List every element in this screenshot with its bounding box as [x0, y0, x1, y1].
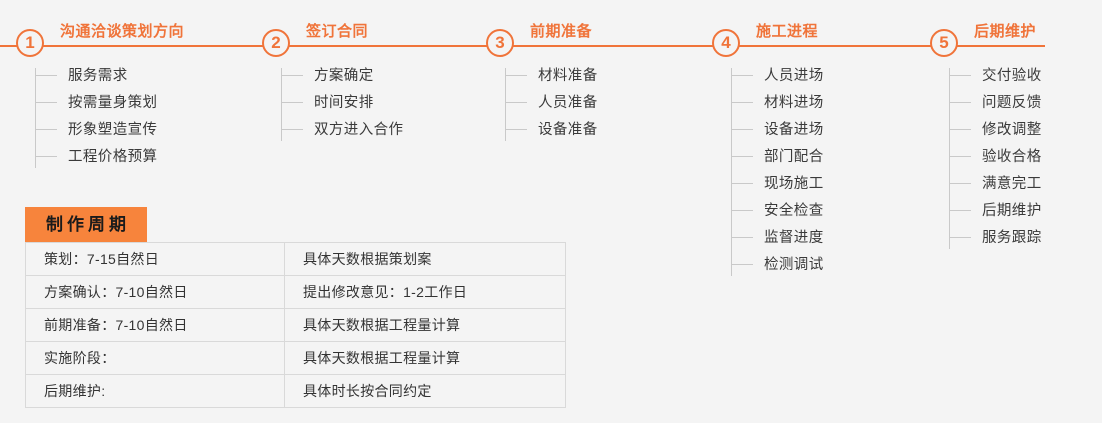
step-subitem-label: 后期维护: [982, 198, 1042, 225]
step-subitem[interactable]: 设备准备: [505, 116, 598, 143]
step-subitem[interactable]: 按需量身策划: [35, 89, 157, 116]
tree-branch-icon: [281, 75, 303, 76]
step-subitem[interactable]: 人员进场: [731, 62, 824, 89]
tree-branch-icon: [281, 102, 303, 103]
cycle-phase-cell: 后期维护:: [26, 375, 285, 408]
cycle-phase-cell: 策划：7-15自然日: [26, 243, 285, 276]
tree-branch-icon: [281, 129, 303, 130]
step-number-badge: 2: [262, 29, 290, 57]
step-subitem-label: 安全检查: [764, 198, 824, 225]
cycle-detail-cell: 具体时长按合同约定: [285, 375, 566, 408]
production-cycle-block: 制作周期 策划：7-15自然日具体天数根据策划案方案确认：7-10自然日提出修改…: [25, 207, 566, 408]
cycle-detail-cell: 具体天数根据策划案: [285, 243, 566, 276]
step-subitem[interactable]: 双方进入合作: [281, 116, 403, 143]
step-subitem[interactable]: 满意完工: [949, 170, 1042, 197]
step-subitem-label: 材料进场: [764, 90, 824, 117]
step-subitem[interactable]: 服务跟踪: [949, 224, 1042, 251]
step-subitem[interactable]: 现场施工: [731, 170, 824, 197]
tree-branch-icon: [35, 129, 57, 130]
tree-branch-icon: [949, 102, 971, 103]
step-subitem[interactable]: 材料进场: [731, 89, 824, 116]
table-row: 方案确认：7-10自然日提出修改意见：1-2工作日: [26, 276, 566, 309]
step-subitem-label: 服务跟踪: [982, 225, 1042, 252]
step-subitem-label: 交付验收: [982, 63, 1042, 90]
step-title: 后期维护: [974, 20, 1036, 41]
step-subitem-label: 现场施工: [764, 171, 824, 198]
step-subitem-list: 材料准备人员准备设备准备: [505, 62, 598, 143]
tree-branch-icon: [35, 102, 57, 103]
step-subitem-label: 验收合格: [982, 144, 1042, 171]
step-subitem-label: 时间安排: [314, 90, 374, 117]
tree-branch-icon: [949, 75, 971, 76]
step-subitem-label: 部门配合: [764, 144, 824, 171]
step-number-badge: 5: [930, 29, 958, 57]
step-subitem-label: 修改调整: [982, 117, 1042, 144]
step-subitem-label: 监督进度: [764, 225, 824, 252]
step-subitem-label: 服务需求: [68, 63, 128, 90]
production-cycle-table: 策划：7-15自然日具体天数根据策划案方案确认：7-10自然日提出修改意见：1-…: [25, 242, 566, 408]
tree-branch-icon: [949, 237, 971, 238]
step-subitem[interactable]: 问题反馈: [949, 89, 1042, 116]
table-row: 前期准备：7-10自然日具体天数根据工程量计算: [26, 309, 566, 342]
step-subitem[interactable]: 人员准备: [505, 89, 598, 116]
step-subitem[interactable]: 服务需求: [35, 62, 157, 89]
tree-branch-icon: [731, 237, 753, 238]
tree-branch-icon: [949, 210, 971, 211]
step-subitem-list: 方案确定时间安排双方进入合作: [281, 62, 403, 143]
step-subitem[interactable]: 检测调试: [731, 251, 824, 278]
step-subitem[interactable]: 安全检查: [731, 197, 824, 224]
step-subitem[interactable]: 工程价格预算: [35, 143, 157, 170]
step-subitem[interactable]: 监督进度: [731, 224, 824, 251]
step-title: 前期准备: [530, 20, 592, 41]
step-number-badge: 4: [712, 29, 740, 57]
tree-branch-icon: [505, 102, 527, 103]
step-title: 签订合同: [306, 20, 368, 41]
table-row: 实施阶段：具体天数根据工程量计算: [26, 342, 566, 375]
tree-branch-icon: [949, 129, 971, 130]
step-subitem-label: 按需量身策划: [68, 90, 157, 117]
cycle-detail-cell: 具体天数根据工程量计算: [285, 309, 566, 342]
step-subitem[interactable]: 部门配合: [731, 143, 824, 170]
tree-branch-icon: [731, 75, 753, 76]
cycle-detail-cell: 具体天数根据工程量计算: [285, 342, 566, 375]
step-subitem-label: 满意完工: [982, 171, 1042, 198]
step-subitem-label: 设备进场: [764, 117, 824, 144]
step-subitem[interactable]: 形象塑造宣传: [35, 116, 157, 143]
step-subitem[interactable]: 验收合格: [949, 143, 1042, 170]
step-subitem-label: 人员准备: [538, 90, 598, 117]
cycle-detail-cell: 提出修改意见：1-2工作日: [285, 276, 566, 309]
tree-branch-icon: [505, 129, 527, 130]
step-subitem-label: 人员进场: [764, 63, 824, 90]
step-subitem-label: 问题反馈: [982, 90, 1042, 117]
step-subitem-list: 人员进场材料进场设备进场部门配合现场施工安全检查监督进度检测调试: [731, 62, 824, 278]
cycle-phase-cell: 前期准备：7-10自然日: [26, 309, 285, 342]
table-row: 策划：7-15自然日具体天数根据策划案: [26, 243, 566, 276]
step-subitem[interactable]: 方案确定: [281, 62, 403, 89]
step-subitem[interactable]: 后期维护: [949, 197, 1042, 224]
step-number-badge: 1: [16, 29, 44, 57]
step-subitem[interactable]: 材料准备: [505, 62, 598, 89]
tree-branch-icon: [731, 210, 753, 211]
production-cycle-badge: 制作周期: [25, 207, 147, 242]
step-subitem[interactable]: 时间安排: [281, 89, 403, 116]
step-subitem-label: 材料准备: [538, 63, 598, 90]
table-row: 后期维护:具体时长按合同约定: [26, 375, 566, 408]
step-number-badge: 3: [486, 29, 514, 57]
step-subitem-label: 设备准备: [538, 117, 598, 144]
step-subitem-list: 服务需求按需量身策划形象塑造宣传工程价格预算: [35, 62, 157, 170]
tree-branch-icon: [731, 264, 753, 265]
step-subitem[interactable]: 修改调整: [949, 116, 1042, 143]
workflow-timeline-page: 1沟通洽谈策划方向服务需求按需量身策划形象塑造宣传工程价格预算2签订合同方案确定…: [0, 0, 1102, 423]
tree-branch-icon: [949, 156, 971, 157]
tree-branch-icon: [731, 102, 753, 103]
tree-branch-icon: [731, 129, 753, 130]
step-subitem-label: 双方进入合作: [314, 117, 403, 144]
step-subitem-label: 方案确定: [314, 63, 374, 90]
cycle-phase-cell: 实施阶段：: [26, 342, 285, 375]
timeline-axis-line: [0, 45, 1045, 47]
tree-branch-icon: [731, 156, 753, 157]
step-subitem-label: 工程价格预算: [68, 144, 157, 171]
tree-branch-icon: [35, 75, 57, 76]
tree-branch-icon: [731, 183, 753, 184]
tree-branch-icon: [35, 156, 57, 157]
step-title: 沟通洽谈策划方向: [60, 20, 184, 41]
step-title: 施工进程: [756, 20, 818, 41]
tree-branch-icon: [505, 75, 527, 76]
step-subitem-label: 形象塑造宣传: [68, 117, 157, 144]
step-subitem-label: 检测调试: [764, 252, 824, 279]
cycle-phase-cell: 方案确认：7-10自然日: [26, 276, 285, 309]
step-subitem-list: 交付验收问题反馈修改调整验收合格满意完工后期维护服务跟踪: [949, 62, 1042, 251]
tree-branch-icon: [949, 183, 971, 184]
step-subitem[interactable]: 交付验收: [949, 62, 1042, 89]
step-subitem[interactable]: 设备进场: [731, 116, 824, 143]
